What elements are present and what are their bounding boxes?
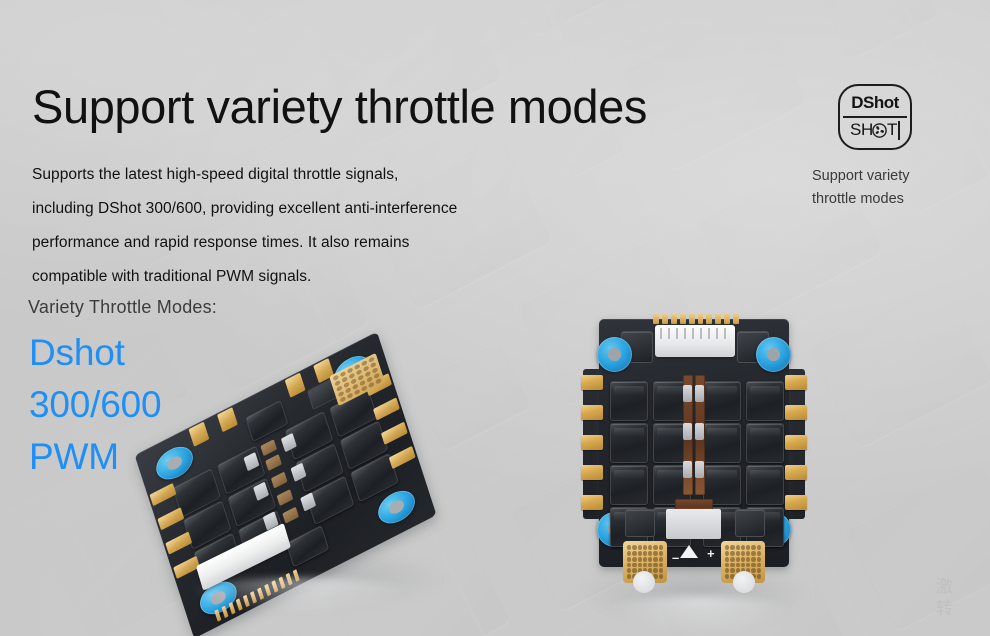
dshot-badge-bottom-suffix: T [887,120,897,140]
dshot-badge-caption-line-2: throttle modes [812,188,976,211]
top-board-grommet-tr [756,337,791,372]
top-board-polarity-minus: – [672,551,679,564]
product-image-top-board: – + [575,313,813,609]
dshot-badge-top-text: DShot [840,93,910,112]
dshot-badge-bottom-row: SH T [840,117,910,143]
top-board-pin-header [653,313,739,324]
dshot-badge-caption: Support variety throttle modes [806,165,976,211]
description-line-4: compatible with traditional PWM signals. [32,260,592,294]
dshot-badge-block: DShot SH T Support variety [806,84,976,211]
description-line-1: Supports the latest high-speed digital t… [32,158,592,192]
dshot-badge-caption-line-1: Support variety [812,165,976,188]
angled-board-reflection [180,578,420,614]
dshot-badge-bar [898,121,900,140]
top-board-polarity-plus: + [707,547,715,560]
description-line-2: including DShot 300/600, providing excel… [32,192,592,226]
description-block: Supports the latest high-speed digital t… [32,158,592,294]
corner-watermark-line-1: 激 [936,576,988,598]
top-board-capacitor-label [666,509,721,539]
top-board-direction-arrow [680,545,698,558]
corner-watermark-line-2: 转 [936,598,988,620]
dshot-badge-icon: DShot SH T [838,84,912,150]
top-board-grommet-tl [597,337,632,372]
corner-watermark: 激 转 [936,576,988,620]
page-title: Support variety throttle modes [32,82,647,131]
top-board-signal-connector [655,325,735,357]
dshot-badge-bottom-prefix: SH [850,120,873,140]
description-line-3: performance and rapid response times. It… [32,226,592,260]
promo-canvas: Support variety throttle modes Supports … [0,0,990,636]
throttle-modes-label: Variety Throttle Modes: [28,297,217,318]
top-board-reflection [600,596,800,636]
propeller-icon [872,123,887,138]
product-image-angled-board [120,372,470,602]
